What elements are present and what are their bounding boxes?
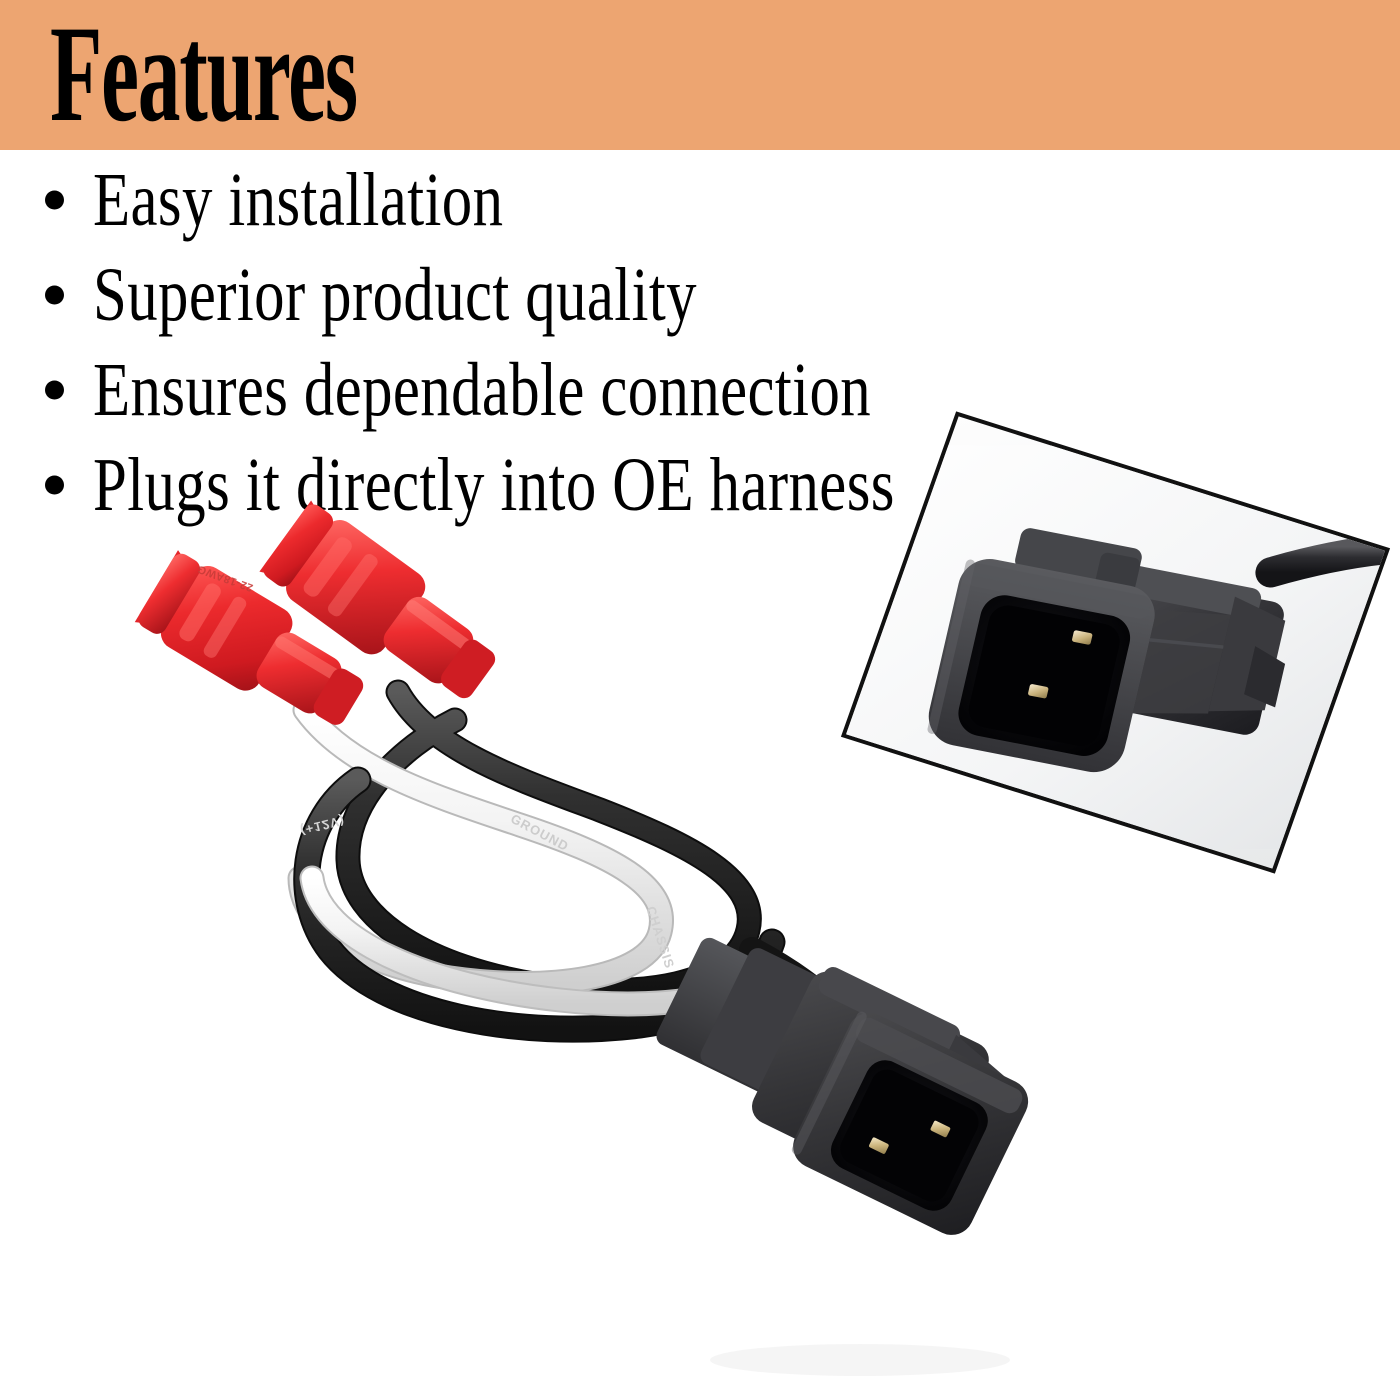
feature-label: Ensures dependable connection [93,351,871,429]
product-feature-image: Features Easy installation Superior prod… [0,0,1400,1400]
feature-item-easy-installation: Easy installation [0,152,1400,247]
feature-label: Superior product quality [93,256,697,334]
bullet-icon [45,190,64,209]
feature-list: Easy installation Superior product quali… [0,152,1400,532]
features-banner: Features [0,0,1400,150]
bullet-icon [45,285,64,304]
feature-item-superior-quality: Superior product quality [0,247,1400,342]
feature-item-dependable-connection: Ensures dependable connection [0,342,1400,437]
oe-male-connector [633,909,1046,1242]
page-title: Features [50,11,357,137]
feature-label: Easy installation [93,161,503,239]
bullet-icon [45,380,64,399]
